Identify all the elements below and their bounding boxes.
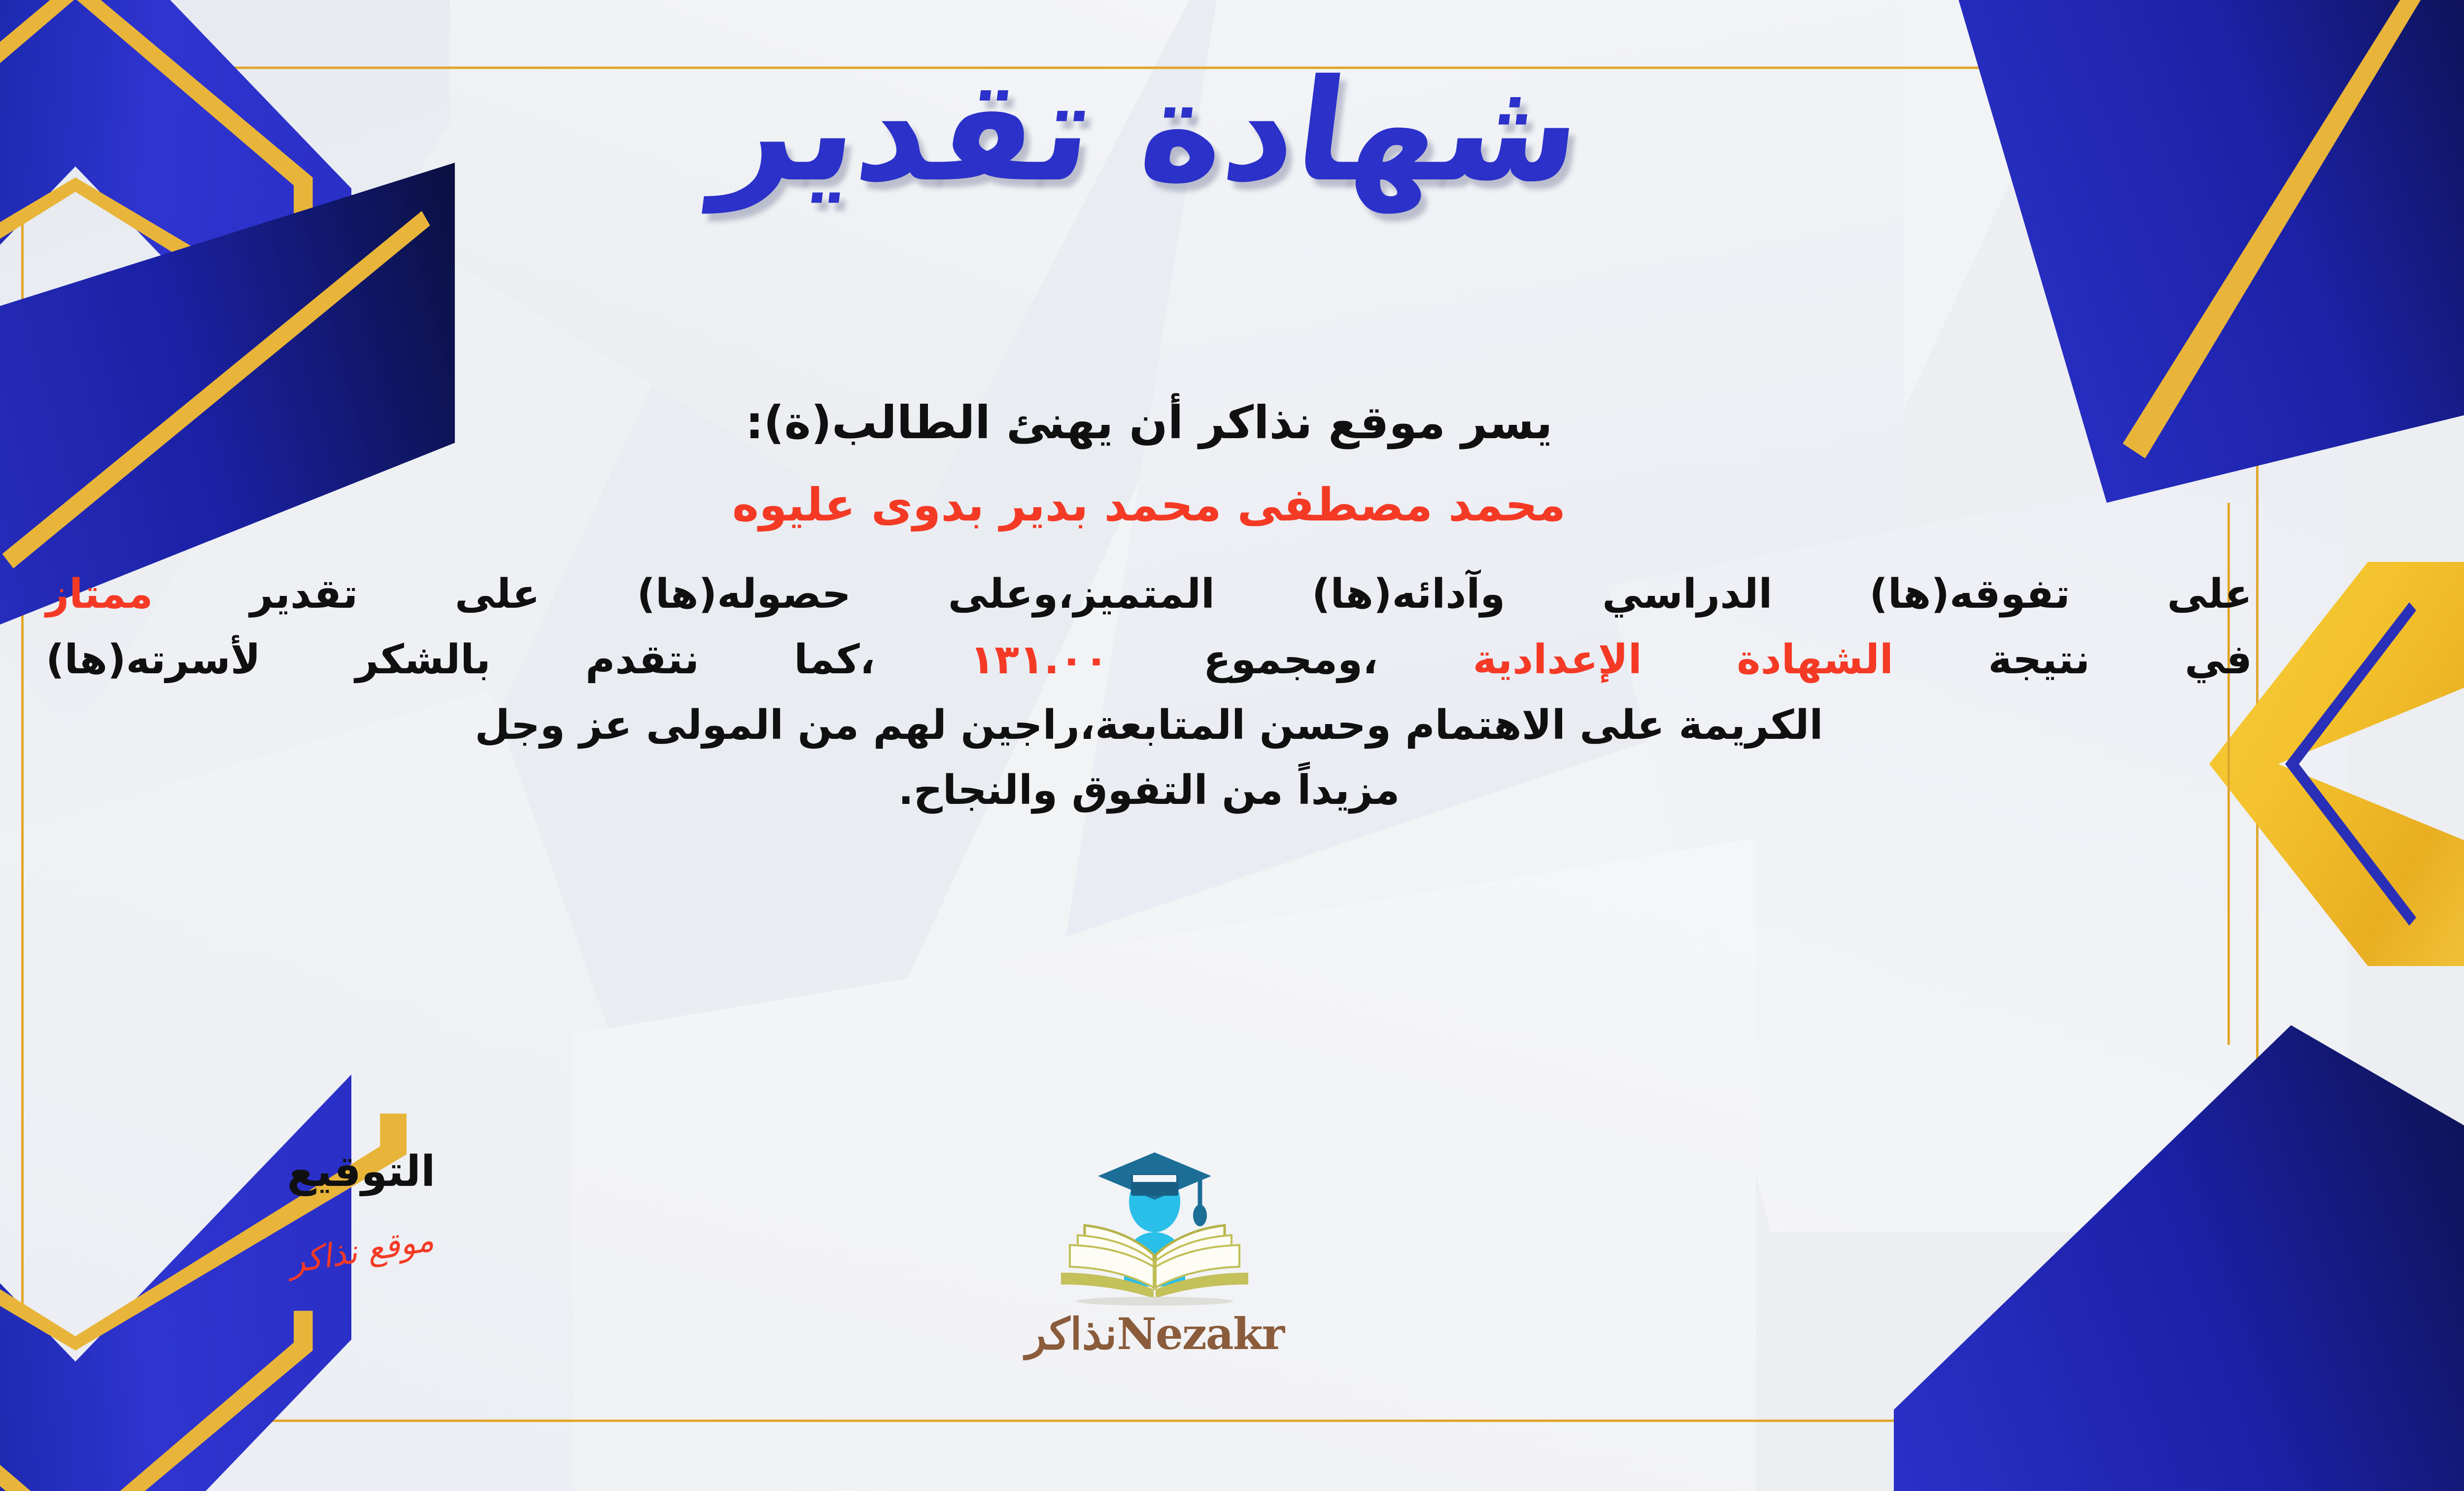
total-score: ١٣١.٠٠: [970, 636, 1108, 683]
certificate-paragraph: على تفوقه(ها) الدراسي وآدائه(ها) المتميز…: [46, 562, 2252, 824]
exam-name: الشهادة الإعدادية: [1473, 636, 1893, 683]
certificate-body: يسر موقع نذاكر أن يهنئ الطالب(ة): محمد م…: [46, 394, 2252, 824]
signature-block: التوقيع موقع نذاكر: [208, 1148, 514, 1270]
paragraph-line-2-middle: ،ومجموع: [1203, 636, 1378, 683]
paragraph-line-1: على تفوقه(ها) الدراسي وآدائه(ها) المتميز…: [46, 562, 2252, 627]
signature-label: التوقيع: [208, 1148, 514, 1195]
paragraph-line-1-text: على تفوقه(ها) الدراسي وآدائه(ها) المتميز…: [250, 571, 2252, 618]
congratulation-lead: يسر موقع نذاكر أن يهنئ الطالب(ة):: [46, 394, 2252, 451]
paragraph-line-2-suffix: ،كما نتقدم بالشكر لأسرته(ها): [46, 636, 875, 683]
paragraph-line-2: في نتيجة الشهادة الإعدادية ،ومجموع ١٣١.٠…: [46, 627, 2252, 693]
corner-ornament-bottom-left: [0, 1075, 351, 1491]
logo-wordmark: Nezakrنذاكر: [967, 1308, 1342, 1359]
certificate-page: شهادة تقدير يسر موقع نذاكر أن يهنئ الطال…: [0, 0, 2464, 1491]
grade-value: ممتاز: [46, 571, 153, 618]
paragraph-line-2-prefix: في نتيجة: [1988, 636, 2252, 683]
graduate-book-icon: [1041, 1144, 1268, 1306]
site-logo: Nezakrنذاكر: [967, 1144, 1342, 1359]
blue-chevron-shape: [1894, 1025, 2464, 1491]
student-name: محمد مصطفى محمد بدير بدوى عليوه: [46, 477, 2252, 533]
paragraph-line-3: الكريمة على الاهتمام وحسن المتابعة،راجين…: [46, 693, 2252, 759]
paragraph-line-4: مزيداً من التفوق والنجاح.: [46, 758, 2252, 824]
certificate-title: شهادة تقدير: [0, 54, 2464, 209]
corner-ornament-bottom-right: [1894, 1025, 2464, 1491]
